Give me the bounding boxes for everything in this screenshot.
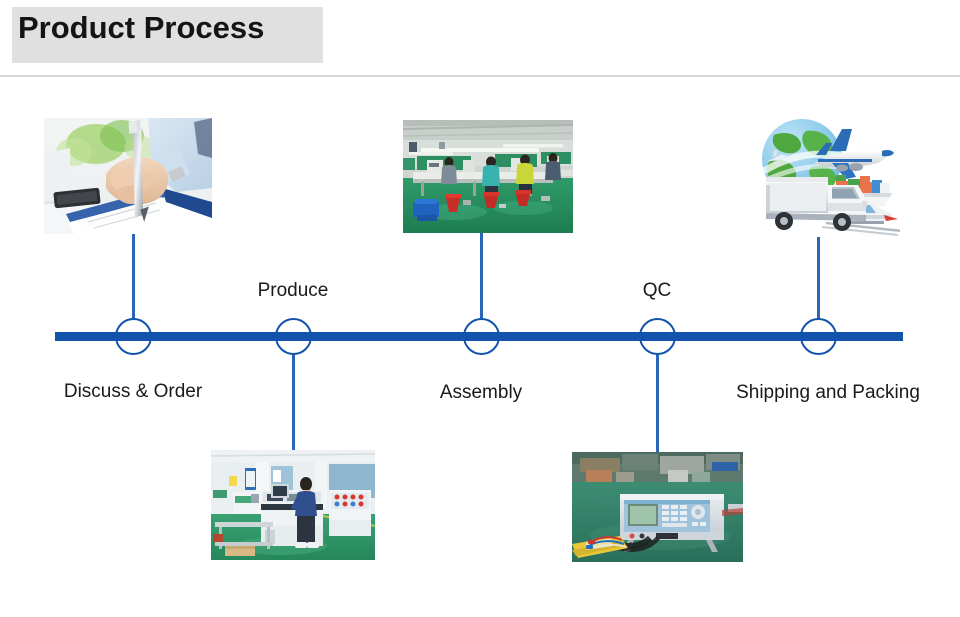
connector-line-step-1: [132, 234, 135, 320]
timeline-node-step-4[interactable]: [639, 318, 676, 355]
shipping-logistics-photo: [740, 113, 900, 237]
signing-contract-photo: [44, 118, 212, 234]
connector-line-step-2: [292, 354, 295, 452]
step-label-discuss-order: Discuss & Order: [33, 380, 233, 404]
timeline-node-step-1[interactable]: [115, 318, 152, 355]
timeline-node-step-2[interactable]: [275, 318, 312, 355]
production-machine-photo: [211, 450, 375, 560]
header-divider: [0, 75, 960, 77]
step-label-shipping-packing: Shipping and Packing: [718, 381, 938, 405]
timeline-node-step-3[interactable]: [463, 318, 500, 355]
timeline-node-step-5[interactable]: [800, 318, 837, 355]
step-label-assembly: Assembly: [391, 381, 571, 405]
assembly-line-photo: [403, 120, 573, 233]
qc-testing-photo: [572, 452, 743, 562]
page-title: Product Process: [18, 9, 264, 47]
connector-line-step-4: [656, 354, 659, 454]
step-label-qc: QC: [577, 279, 737, 303]
connector-line-step-5: [817, 232, 820, 320]
page-header: Product Process: [0, 0, 960, 77]
step-label-produce: Produce: [213, 279, 373, 303]
connector-line-step-3: [480, 233, 483, 320]
